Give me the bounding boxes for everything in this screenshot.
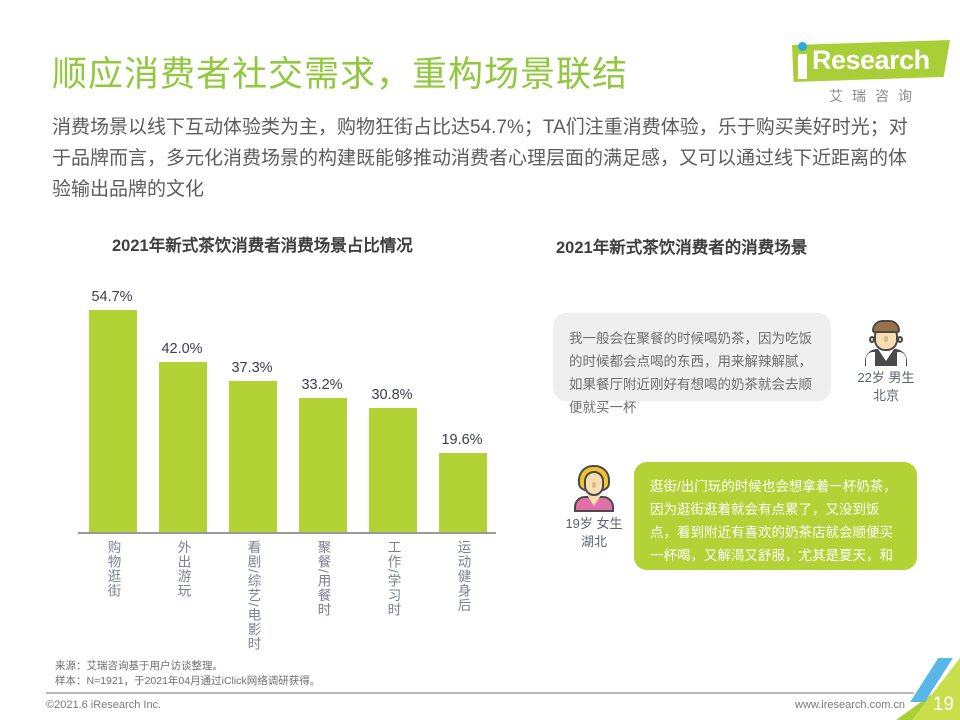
bar-slot: 42.0% (148, 288, 218, 533)
bar-value-label: 33.2% (283, 377, 361, 393)
bar (439, 453, 487, 533)
person-age-gender: 19岁 女生 (546, 515, 642, 533)
bar (229, 381, 277, 533)
chart-plot-area: 54.7% 42.0% 37.3% 33.2% 30.8% 19.6% (78, 288, 498, 533)
bar-value-label: 30.8% (353, 387, 431, 403)
chart-title: 2021年新式茶饮消费者消费场景占比情况 (112, 232, 413, 256)
bar-value-label: 42.0% (143, 341, 221, 357)
x-axis-label-text: 外出游玩 (175, 540, 192, 598)
bar (299, 398, 347, 533)
bar-value-label: 37.3% (213, 360, 291, 376)
footer-divider (46, 692, 914, 694)
logo-wordmark: Research (812, 45, 930, 76)
page-number: 19 (933, 694, 954, 716)
bar-slot: 33.2% (288, 288, 358, 533)
x-axis-label-text: 工作/学习时 (385, 540, 402, 617)
website-url: www.iresearch.com.cn (795, 699, 905, 711)
bar-slot: 30.8% (358, 288, 428, 533)
person-age-gender: 22岁 男生 (838, 369, 934, 387)
logo-mark: Research (778, 38, 950, 84)
bar-slot: 37.3% (218, 288, 288, 533)
male-avatar-icon (861, 316, 911, 366)
logo-chinese-name: 艾瑞咨询 (800, 86, 950, 106)
source-note: 来源：艾瑞咨询基于用户访谈整理。 样本：N=1921，于2021年04月通过iC… (55, 659, 320, 689)
corner-decoration: 19 (896, 658, 960, 720)
source-line-1: 来源：艾瑞咨询基于用户访谈整理。 (55, 659, 320, 674)
logo-letter-i-dot (798, 42, 807, 51)
person-city: 北京 (838, 387, 934, 405)
x-axis-label-text: 看剧/综艺/电影时 (245, 540, 262, 651)
x-axis-label: 聚餐/用餐时 (288, 540, 358, 617)
bar (159, 362, 207, 533)
avatar-nose (884, 336, 888, 342)
quote-person: 19岁 女生 湖北 (546, 462, 642, 551)
female-avatar-icon (569, 462, 619, 512)
avatar-shoulder-right (897, 352, 906, 366)
bar-slot: 19.6% (428, 288, 498, 533)
x-axis-label-text: 聚餐/用餐时 (315, 540, 332, 617)
x-axis-label: 工作/学习时 (358, 540, 428, 617)
x-axis-label: 运动健身后 (428, 540, 498, 613)
quote-bubble: 我一般会在聚餐的时候喝奶茶，因为吃饭的时候都会点喝的东西，用来解辣解腻，如果餐厅… (553, 313, 831, 401)
page-title: 顺应消费者社交需求，重构场景联结 (52, 46, 628, 97)
x-axis-label-text: 运动健身后 (455, 540, 472, 613)
x-axis-label: 外出游玩 (148, 540, 218, 598)
person-city: 湖北 (546, 533, 642, 551)
page-lead-paragraph: 消费场景以线下互动体验类为主，购物狂街占比达54.7%；TA们注重消费体验，乐于… (52, 112, 912, 205)
source-line-2: 样本：N=1921，于2021年04月通过iClick网络调研获得。 (55, 674, 320, 689)
iresearch-logo: Research 艾瑞咨询 (778, 38, 950, 110)
x-axis-label: 看剧/综艺/电影时 (218, 540, 288, 651)
quote-person: 22岁 男生 北京 (838, 316, 934, 405)
avatar-hair (872, 320, 900, 333)
quotes-panel-title: 2021年新式茶饮消费者的消费场景 (556, 234, 807, 258)
x-axis-label: 购物逛街 (78, 540, 148, 598)
chart-x-axis-line (78, 532, 496, 534)
avatar-nose (592, 482, 596, 488)
bar-value-label: 54.7% (73, 289, 151, 305)
bar (369, 408, 417, 533)
copyright-text: ©2021.6 iResearch Inc. (46, 699, 161, 711)
chart-x-axis-labels: 购物逛街 外出游玩 看剧/综艺/电影时 聚餐/用餐时 工作/学习时 运动健身后 (78, 540, 498, 650)
avatar-shoulder-left (866, 352, 875, 366)
logo-letter-i-stem (798, 54, 807, 79)
slide-root: Research 艾瑞咨询 顺应消费者社交需求，重构场景联结 消费场景以线下互动… (0, 0, 960, 720)
quote-bubble: 逛街/出门玩的时候也会想拿着一杯奶茶，因为逛街逛着就会有点累了，又没到饭点，看到… (634, 462, 917, 570)
bar-chart: 54.7% 42.0% 37.3% 33.2% 30.8% 19.6% (78, 288, 498, 648)
x-axis-label-text: 购物逛街 (105, 540, 122, 598)
bar (89, 310, 137, 533)
bar-value-label: 19.6% (423, 432, 501, 448)
bar-slot: 54.7% (78, 288, 148, 533)
